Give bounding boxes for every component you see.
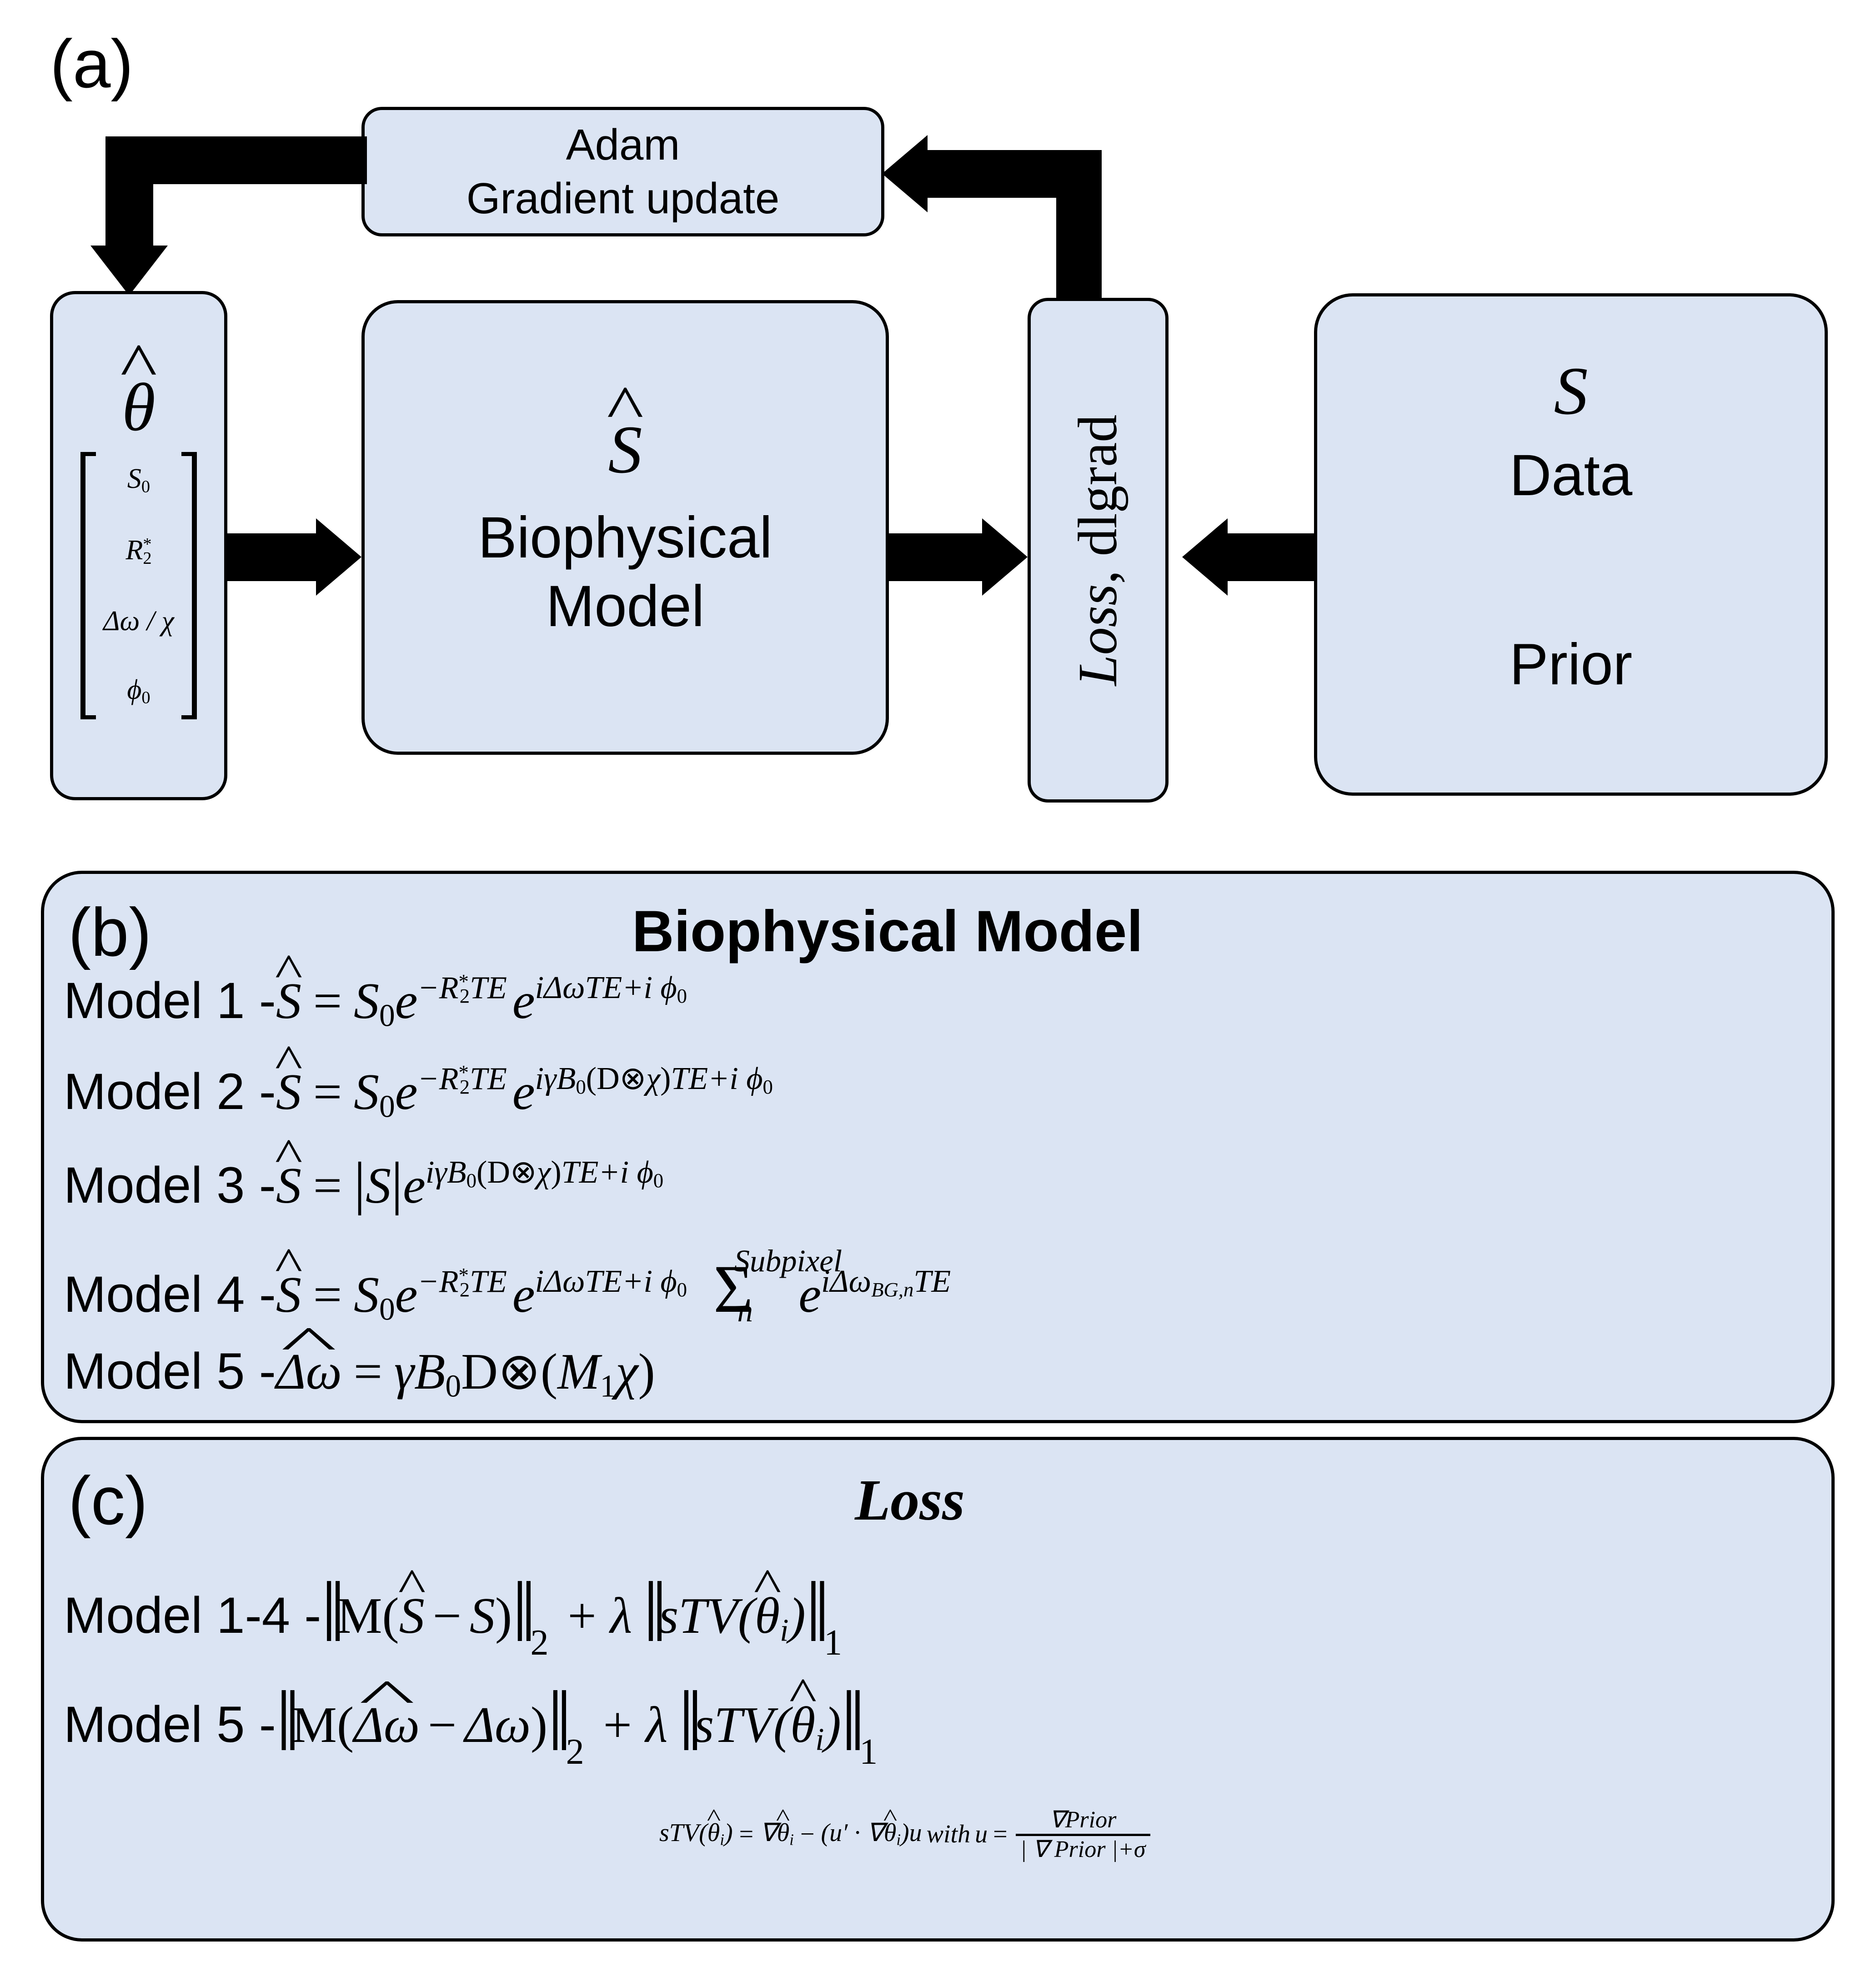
model-to-loss-arrow-head bbox=[982, 518, 1028, 596]
loss-model-5-equation: Model 5 - ‖ M(Δω−Δω) ‖2 + λ ‖ sTV(θi) ‖1 bbox=[64, 1687, 875, 1756]
loss-5-plus: + bbox=[582, 1700, 646, 1751]
panel-c-label: (c) bbox=[68, 1466, 148, 1535]
model-4-equation: Model 4 - S = S0 e−R*2TE eiΔωTE+i ϕ0 ΣSu… bbox=[64, 1255, 951, 1325]
feedback-arrow-head bbox=[90, 246, 168, 296]
model-5-label: Model 5 - bbox=[64, 1346, 276, 1397]
model-1-equation: Model 1 - S = S0 e−R*2TE eiΔωTE+i ϕ0 bbox=[64, 975, 687, 1032]
footnote-eq2: = bbox=[988, 1821, 1013, 1847]
adam-gradient-update-box[interactable]: Adam Gradient update bbox=[361, 107, 884, 236]
footnote-with: with bbox=[922, 1821, 975, 1847]
footnote-u: u bbox=[975, 1821, 988, 1847]
data-to-loss-arrow-head bbox=[1182, 518, 1228, 596]
loss-dlgrad-label: Loss, dlgrad bbox=[1070, 415, 1126, 686]
loss-1-4-norm-order-2: 2 bbox=[531, 1625, 549, 1661]
data-label: Data bbox=[1510, 441, 1632, 510]
panel-a-label: (a) bbox=[50, 30, 133, 98]
loss-model-1-4-equation: Model 1-4 - ‖ M(S−S) ‖2 + λ ‖ sTV(θi) ‖1 bbox=[64, 1578, 839, 1646]
theta-symbol: θ bbox=[122, 372, 155, 444]
data-to-loss-arrow-shaft bbox=[1228, 533, 1323, 581]
panel-c-title: Loss bbox=[855, 1471, 965, 1529]
theta-item-domega-chi: Δω / χ bbox=[103, 601, 174, 642]
theta-vector: S0 R*2 Δω / χ ϕ0 bbox=[80, 452, 197, 719]
theta-parameters-box[interactable]: θ S0 R*2 Δω / χ ϕ0 bbox=[50, 291, 227, 800]
loss-1-4-plus: + bbox=[546, 1591, 610, 1641]
model-3-label: Model 3 - bbox=[64, 1160, 276, 1211]
theta-to-model-arrow-head bbox=[316, 518, 361, 596]
loss-5-lambda: λ bbox=[646, 1700, 668, 1751]
loss-dlgrad-box[interactable]: Loss, dlgrad bbox=[1028, 298, 1169, 803]
theta-item-phi0: ϕ0 bbox=[103, 669, 174, 713]
u-definition-fraction: ∇Prior | ∇ Prior |+σ bbox=[1016, 1808, 1150, 1862]
model-5-equation: Model 5 - Δω = γB0D⊗(M1χ) bbox=[64, 1346, 655, 1402]
loss-5-norm-order-1: 1 bbox=[859, 1734, 878, 1770]
loss-to-adam-arrow-head bbox=[882, 135, 928, 212]
biophysical-model-line2: Model bbox=[546, 572, 705, 641]
prior-label: Prior bbox=[1510, 630, 1632, 699]
model-to-loss-arrow-shaft bbox=[889, 533, 982, 581]
loss-1-4-lambda: λ bbox=[610, 1591, 632, 1641]
biophysical-model-box[interactable]: S Biophysical Model bbox=[361, 300, 889, 755]
data-prior-box[interactable]: S Data Prior bbox=[1314, 293, 1828, 796]
model-4-label: Model 4 - bbox=[64, 1269, 276, 1320]
adam-label: Adam bbox=[566, 118, 680, 171]
loss-1-4-norm-order-1: 1 bbox=[824, 1625, 842, 1661]
figure-root: (a) Adam Gradient update θ S0 R*2 Δω / χ… bbox=[0, 0, 1876, 1972]
loss-model-1-4-label: Model 1-4 - bbox=[64, 1590, 321, 1641]
gradient-update-label: Gradient update bbox=[466, 172, 780, 225]
theta-item-s0: S0 bbox=[103, 458, 174, 502]
feedback-arrow-vertical bbox=[105, 136, 153, 250]
summation-symbol: ΣSubpixeln bbox=[713, 1255, 753, 1323]
model-3-equation: Model 3 - S = |S| eiγB0(D⊗χ)TE+i ϕ0 bbox=[64, 1159, 663, 1211]
loss-5-norm-order-2: 2 bbox=[566, 1734, 584, 1770]
model-2-equation: Model 2 - S = S0 e−R*2TE eiγB0(D⊗χ)TE+i … bbox=[64, 1066, 773, 1123]
panel-b-title: Biophysical Model bbox=[632, 903, 1143, 961]
biophysical-model-line1: Biophysical bbox=[478, 503, 772, 572]
model-1-label: Model 1 - bbox=[64, 975, 276, 1026]
fraction-numerator: ∇Prior bbox=[1045, 1808, 1121, 1834]
theta-to-model-arrow-shaft bbox=[227, 533, 316, 581]
loss-to-adam-arrow-horizontal bbox=[928, 150, 1102, 198]
theta-item-r2star: R*2 bbox=[103, 529, 174, 573]
sum-lower-limit: n bbox=[737, 1295, 753, 1327]
fraction-denominator: | ∇ Prior |+σ bbox=[1016, 1834, 1150, 1862]
s-symbol: S bbox=[1554, 356, 1588, 427]
stv-definition-footnote: sTV(θi) = ∇θi − (u′ · ∇θi)u with u = ∇Pr… bbox=[659, 1807, 1153, 1861]
s-hat-symbol: S bbox=[608, 414, 642, 486]
model-2-label: Model 2 - bbox=[64, 1066, 276, 1117]
loss-model-5-label: Model 5 - bbox=[64, 1699, 276, 1750]
panel-b-label: (b) bbox=[68, 898, 151, 966]
